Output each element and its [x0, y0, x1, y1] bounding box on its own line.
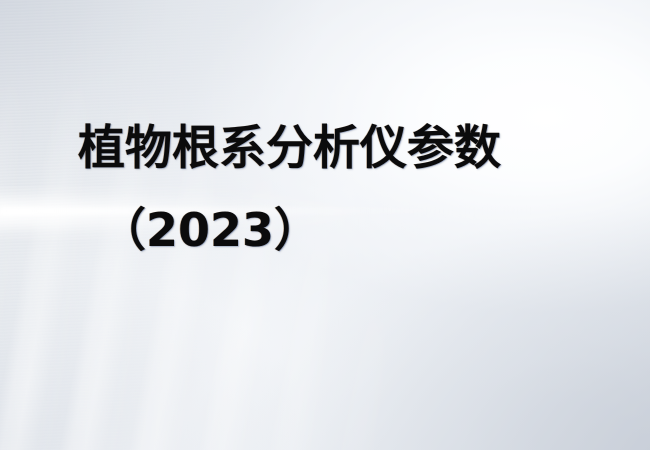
- page-title-year: （2023）: [0, 200, 650, 261]
- title-slide: 植物根系分析仪参数 （2023）: [0, 0, 650, 450]
- page-title: 植物根系分析仪参数: [0, 118, 650, 179]
- mesh-bottomright-diagonals: [176, 296, 650, 450]
- slide-title-block: 植物根系分析仪参数 （2023）: [0, 118, 650, 261]
- mesh-lower-perspective-rows: [0, 252, 650, 450]
